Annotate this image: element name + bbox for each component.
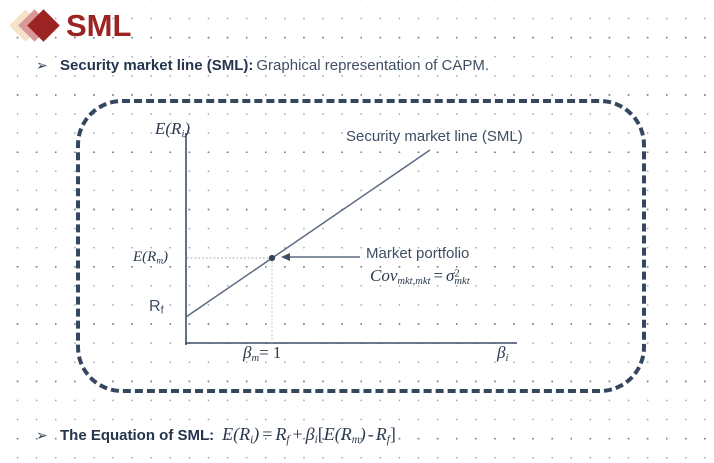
eq-minus: -	[368, 424, 374, 444]
chart-x-value-label: βm= 1	[243, 343, 281, 364]
y-value-label-close: )	[163, 249, 168, 265]
chart-y-axis-label: E(Ri)	[155, 119, 190, 140]
rf-label-r: R	[149, 298, 161, 315]
eq-e-close: )	[253, 424, 259, 444]
y-axis-label-e: E(R	[155, 119, 181, 138]
chart-covariance-formula: Covmkt,mkt=σ2mkt	[370, 266, 470, 287]
bullet-label-strong-2: The Equation of SML:	[60, 427, 214, 444]
bullet-label-strong: Security market line (SML):	[60, 57, 253, 74]
eq-m-sub: m	[352, 434, 360, 446]
y-value-label-e: E(R	[133, 249, 156, 265]
chart-risk-free-label: Rf	[149, 298, 164, 317]
eq-plus: +	[293, 424, 303, 444]
betai-label-sub: i	[505, 353, 508, 364]
bullet-arrow-icon: ➢	[36, 58, 60, 74]
chart-line-annotation: Security market line (SML)	[346, 128, 523, 145]
three-diamonds-icon	[14, 7, 60, 43]
chart-y-value-label: E(Rm)	[133, 249, 168, 267]
eq-rf2: R	[376, 424, 387, 444]
eq-f-sub: f	[286, 434, 289, 446]
rf-label-sub: f	[161, 305, 164, 317]
bullet-label-normal: Graphical representation of CAPM.	[256, 57, 489, 74]
eq-em-close: )	[360, 424, 366, 444]
sml-equation: E(Ri)=Rf+βi[E(Rm)-Rf]	[222, 424, 396, 446]
bullet-item-sml-definition: ➢ Security market line (SML): Graphical …	[36, 57, 489, 74]
sigma-subscript: mkt	[454, 276, 469, 287]
cov-equals: =	[433, 266, 443, 285]
chart-x-axis-label: βi	[497, 343, 508, 364]
slide-canvas: SML ➢ Security market line (SML): Graphi…	[0, 0, 714, 463]
eq-em-open: E(R	[324, 424, 352, 444]
bullet-arrow-icon-2: ➢	[36, 428, 60, 444]
chart-point-annotation: Market portfolio	[366, 245, 469, 262]
eq-beta: β	[306, 424, 315, 444]
y-axis-label-close: )	[184, 119, 190, 138]
page-title: SML	[66, 10, 131, 41]
bullet-item-sml-equation: ➢ The Equation of SML: E(Ri)=Rf+βi[E(Rm)…	[36, 424, 396, 446]
betam-label-sub: m	[251, 353, 259, 364]
cov-symbol: Cov	[370, 266, 397, 285]
eq-equals: =	[262, 424, 272, 444]
eq-rf: R	[275, 424, 286, 444]
slide-header: SML	[14, 4, 131, 46]
eq-e-open: E(R	[222, 424, 250, 444]
betam-label-eq: = 1	[259, 343, 281, 362]
eq-bracket-close: ]	[390, 424, 396, 444]
cov-subscript: mkt,mkt	[397, 276, 430, 287]
